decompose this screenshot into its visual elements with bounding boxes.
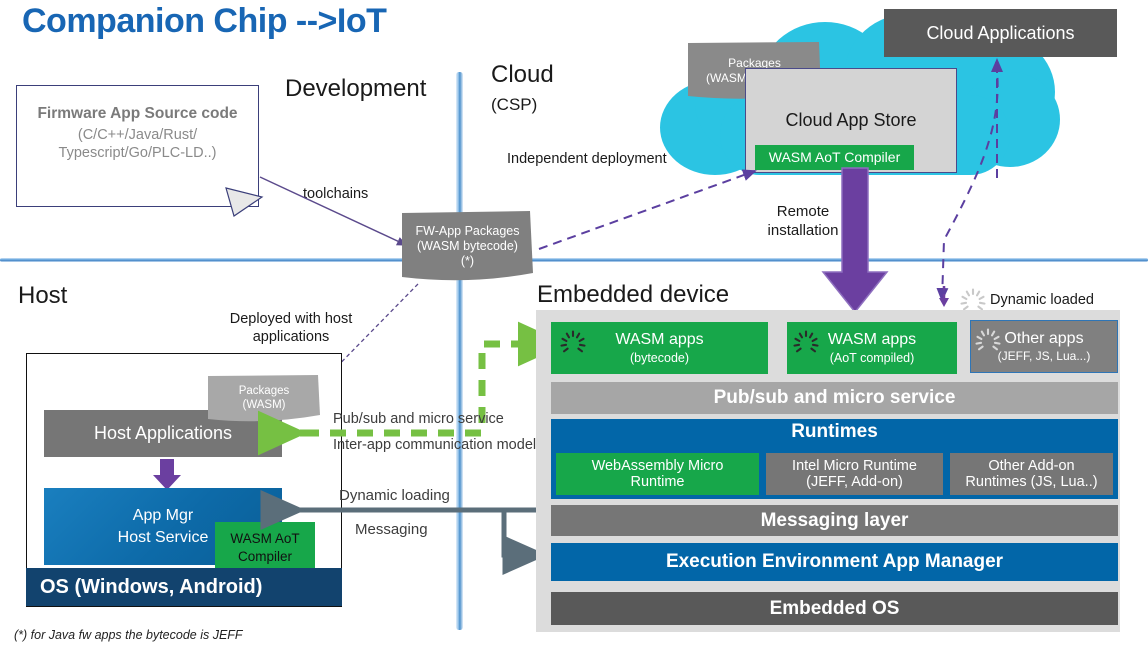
embedded-runtime-0: WebAssembly Micro Runtime <box>556 453 759 495</box>
embedded-app-1-spinner-icon <box>793 330 819 356</box>
embedded-runtimes-title: Runtimes <box>551 421 1118 443</box>
host-os-label: OS (Windows, Android) <box>26 576 262 599</box>
fw-callout-line3: (*) <box>461 254 474 269</box>
embedded-app-0-line1: WASM apps <box>615 331 703 349</box>
remote-installation-arrow <box>823 168 889 314</box>
page-title: Companion Chip -->IoT <box>22 2 386 41</box>
source-box-line3: Typescript/Go/PLC-LD..) <box>17 145 258 161</box>
embedded-app-1-line2: (AoT compiled) <box>830 351 915 365</box>
firmware-source-code-box: Firmware App Source code (C/C++/Java/Rus… <box>16 85 259 207</box>
fw-callout-line2: (WASM bytecode) <box>417 239 518 254</box>
inter-app-communication-label: Inter-app communication models <box>333 437 543 453</box>
cloud-to-device-dashed-arrow <box>930 60 1010 310</box>
section-heading-host: Host <box>18 282 67 310</box>
toolchains-arrow <box>258 175 418 255</box>
dynamic-loaded-small-arrow <box>938 286 952 308</box>
cloud-wasm-aot-compiler: WASM AoT Compiler <box>755 145 914 170</box>
interapp-green-dashed-path <box>282 330 564 445</box>
embedded-app-2-spinner-icon <box>975 328 1001 354</box>
embedded-runtime-2-line1: Other Add-on <box>988 458 1074 474</box>
embedded-os: Embedded OS <box>551 592 1118 625</box>
fw-app-packages-callout: FW-App Packages (WASM bytecode) (*) <box>402 211 533 285</box>
embedded-runtime-1-line2: (JEFF, Add-on) <box>806 474 903 490</box>
dynamic-loaded-label: Dynamic loaded <box>990 292 1094 308</box>
embedded-app-0-line2: (bytecode) <box>630 351 689 365</box>
embedded-runtime-0-line2: Runtime <box>631 474 685 490</box>
source-box-line2: (C/C++/Java/Rust/ <box>17 127 258 143</box>
embedded-runtime-0-line1: WebAssembly Micro <box>592 458 724 474</box>
host-apps-to-appmgr-arrow <box>152 459 182 490</box>
embedded-app-2-line2: (JEFF, JS, Lua...) <box>998 350 1091 363</box>
embedded-app-manager: Execution Environment App Manager <box>551 543 1118 581</box>
cloud-applications-box: Cloud Applications <box>884 9 1117 57</box>
pubsub-micro-service-label: Pub/sub and micro service <box>333 411 504 427</box>
section-heading-development: Development <box>285 75 426 103</box>
source-box-line1: Firmware App Source code <box>17 105 258 123</box>
embedded-runtime-1: Intel Micro Runtime (JEFF, Add-on) <box>766 453 943 495</box>
embedded-app-2-line1: Other apps <box>1004 330 1083 348</box>
footnote: (*) for Java fw apps the bytecode is JEF… <box>14 628 243 642</box>
embedded-runtime-2-line2: Runtimes (JS, Lua..) <box>965 474 1097 490</box>
embedded-pubsub-bar: Pub/sub and micro service <box>551 382 1118 414</box>
embedded-runtime-2: Other Add-on Runtimes (JS, Lua..) <box>950 453 1113 495</box>
section-subheading-cloud: (CSP) <box>491 95 537 115</box>
independent-deployment-arrow <box>533 165 763 255</box>
host-os-box: OS (Windows, Android) <box>26 568 342 606</box>
section-heading-cloud: Cloud <box>491 61 554 89</box>
dynamic-loading-messaging-arrows <box>282 500 552 562</box>
slide-canvas: Companion Chip -->IoT Development Cloud … <box>0 0 1148 653</box>
app-mgr-line1: App Mgr <box>133 505 193 527</box>
embedded-app-1-line1: WASM apps <box>828 331 916 349</box>
host-callout-line2: (WASM) <box>242 399 285 413</box>
embedded-runtime-1-line1: Intel Micro Runtime <box>792 458 917 474</box>
embedded-app-0-spinner-icon <box>560 330 586 356</box>
fw-callout-line1: FW-App Packages <box>416 224 520 239</box>
app-mgr-line2: Host Service <box>118 527 209 549</box>
cloud-app-store-title: Cloud App Store <box>746 69 956 131</box>
embedded-messaging-layer: Messaging layer <box>551 505 1118 536</box>
section-heading-embedded: Embedded device <box>537 281 729 309</box>
